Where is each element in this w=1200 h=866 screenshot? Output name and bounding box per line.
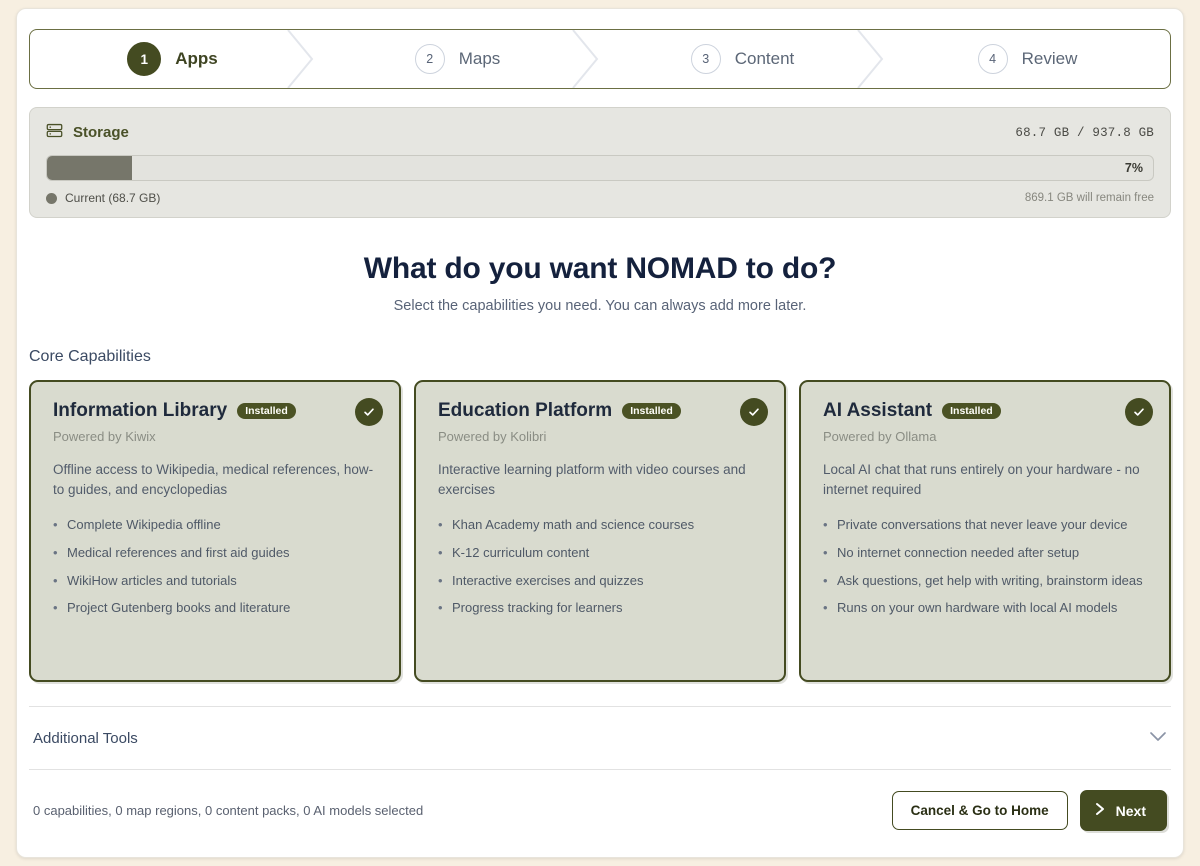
selection-summary: 0 capabilities, 0 map regions, 0 content…	[33, 803, 423, 818]
app-window: 1 Apps 2 Maps 3 Content 4 Review	[16, 8, 1184, 858]
legend-color-dot	[46, 193, 57, 204]
capability-card-list: Information Library Installed Powered by…	[29, 380, 1171, 682]
selected-check-icon[interactable]	[355, 398, 383, 426]
step-separator-icon	[856, 30, 886, 88]
step-separator-icon	[571, 30, 601, 88]
storage-progress-fill	[47, 156, 132, 180]
selected-check-icon[interactable]	[1125, 398, 1153, 426]
list-item: Interactive exercises and quizzes	[438, 572, 766, 591]
chevron-down-icon[interactable]	[1149, 729, 1167, 747]
status-badge: Installed	[942, 403, 1001, 420]
card-subtitle: Powered by Kiwix	[53, 429, 381, 444]
selected-check-icon[interactable]	[740, 398, 768, 426]
list-item: Private conversations that never leave y…	[823, 516, 1151, 535]
additional-tools-accordion[interactable]: Additional Tools	[29, 707, 1171, 770]
status-badge: Installed	[237, 403, 296, 420]
next-button-label: Next	[1116, 803, 1146, 819]
card-subtitle: Powered by Ollama	[823, 429, 1151, 444]
legend-label: Current (68.7 GB)	[65, 191, 160, 205]
storage-progress-bar: 7%	[46, 155, 1154, 181]
card-feature-list: Private conversations that never leave y…	[823, 516, 1151, 618]
list-item: Medical references and first aid guides	[53, 544, 381, 563]
storage-legend: Current (68.7 GB)	[46, 191, 160, 205]
wizard-footer: 0 capabilities, 0 map regions, 0 content…	[29, 770, 1171, 831]
step-separator-icon	[286, 30, 316, 88]
cancel-button[interactable]: Cancel & Go to Home	[892, 791, 1068, 830]
step-label-maps: Maps	[459, 49, 501, 69]
storage-panel: Storage 68.7 GB / 937.8 GB 7% Current (6…	[29, 107, 1171, 218]
capability-card-information-library[interactable]: Information Library Installed Powered by…	[29, 380, 401, 682]
card-subtitle: Powered by Kolibri	[438, 429, 766, 444]
step-label-review: Review	[1022, 49, 1078, 69]
list-item: Progress tracking for learners	[438, 599, 766, 618]
storage-amount: 68.7 GB / 937.8 GB	[1015, 126, 1154, 140]
footer-actions: Cancel & Go to Home Next	[892, 790, 1167, 831]
page-subtitle: Select the capabilities you need. You ca…	[29, 298, 1171, 314]
list-item: K-12 curriculum content	[438, 544, 766, 563]
step-label-content: Content	[735, 49, 795, 69]
card-title: Information Library	[53, 400, 227, 422]
storage-header: Storage	[46, 122, 129, 143]
card-feature-list: Complete Wikipedia offline Medical refer…	[53, 516, 381, 618]
chevron-right-icon	[1095, 802, 1106, 819]
status-badge: Installed	[622, 403, 681, 420]
list-item: Khan Academy math and science courses	[438, 516, 766, 535]
step-number-4: 4	[978, 44, 1008, 74]
storage-percent-label: 7%	[1125, 156, 1143, 180]
section-heading-core-capabilities: Core Capabilities	[29, 348, 1171, 366]
wizard-stepper: 1 Apps 2 Maps 3 Content 4 Review	[29, 29, 1171, 89]
step-number-2: 2	[415, 44, 445, 74]
additional-tools-label: Additional Tools	[33, 730, 138, 747]
hard-drive-icon	[46, 122, 63, 143]
storage-title-label: Storage	[73, 124, 129, 141]
card-description: Offline access to Wikipedia, medical ref…	[53, 460, 381, 500]
card-title: AI Assistant	[823, 400, 932, 422]
capability-card-education-platform[interactable]: Education Platform Installed Powered by …	[414, 380, 786, 682]
storage-remaining-label: 869.1 GB will remain free	[1025, 192, 1154, 204]
step-content[interactable]: 3 Content	[600, 30, 885, 88]
next-button[interactable]: Next	[1080, 790, 1167, 831]
hero-section: What do you want NOMAD to do? Select the…	[29, 252, 1171, 314]
list-item: WikiHow articles and tutorials	[53, 572, 381, 591]
step-review[interactable]: 4 Review	[885, 30, 1170, 88]
list-item: Complete Wikipedia offline	[53, 516, 381, 535]
card-title: Education Platform	[438, 400, 612, 422]
capability-card-ai-assistant[interactable]: AI Assistant Installed Powered by Ollama…	[799, 380, 1171, 682]
step-apps[interactable]: 1 Apps	[30, 30, 315, 88]
card-description: Interactive learning platform with video…	[438, 460, 766, 500]
list-item: Ask questions, get help with writing, br…	[823, 572, 1151, 591]
page-title: What do you want NOMAD to do?	[29, 252, 1171, 286]
list-item: No internet connection needed after setu…	[823, 544, 1151, 563]
step-number-3: 3	[691, 44, 721, 74]
card-feature-list: Khan Academy math and science courses K-…	[438, 516, 766, 618]
card-description: Local AI chat that runs entirely on your…	[823, 460, 1151, 500]
step-label-apps: Apps	[175, 49, 218, 69]
step-maps[interactable]: 2 Maps	[315, 30, 600, 88]
list-item: Runs on your own hardware with local AI …	[823, 599, 1151, 618]
step-number-1: 1	[127, 42, 161, 76]
list-item: Project Gutenberg books and literature	[53, 599, 381, 618]
